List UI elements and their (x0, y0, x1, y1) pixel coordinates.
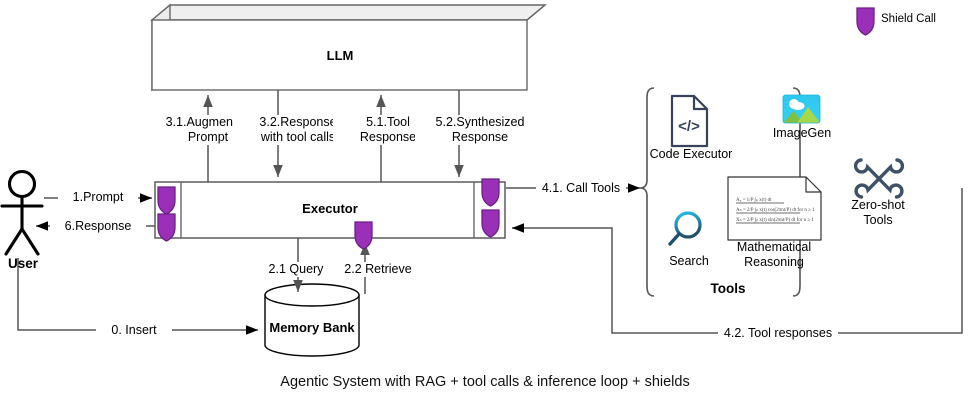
shield-icon-exec-left-top (158, 187, 175, 214)
image-icon (783, 95, 820, 123)
shield-icon-exec-right-bottom (482, 210, 499, 237)
shield-icon-exec-bottom (355, 222, 372, 249)
shield-icon-legend (857, 8, 874, 35)
user-label: User (0, 256, 46, 271)
diagram-svg: </> A₀ = 1/P ∫ₚ x(t (0, 0, 970, 411)
edge-0-insert (18, 258, 258, 330)
magnifier-icon (670, 213, 700, 244)
user-actor[interactable] (2, 172, 42, 255)
diagram-caption: Agentic System with RAG + tool calls & i… (0, 374, 970, 390)
memory-bank-label: Memory Bank (252, 320, 372, 335)
svg-text:</>: </> (678, 118, 700, 135)
shield-icon-exec-right-top (482, 179, 499, 206)
legend-label: Shield Call (881, 13, 936, 25)
shield-icon-exec-left-bottom (158, 214, 175, 241)
code-document-icon: </> (672, 96, 707, 146)
svg-text:Aₙ = 2/P ∫ₚ x(t) cos(2πnt/P) d: Aₙ = 2/P ∫ₚ x(t) cos(2πnt/P) dt for n ≥ … (736, 207, 815, 213)
llm-label: LLM (270, 48, 410, 63)
svg-text:Xₙ = 2/P ∫ₚ x(t) sin(2πnt/P) d: Xₙ = 2/P ∫ₚ x(t) sin(2πnt/P) dt for n ≥ … (736, 217, 814, 223)
diagram-canvas: </> A₀ = 1/P ∫ₚ x(t (0, 0, 970, 411)
executor-label: Executor (255, 201, 405, 216)
formula-document-icon: A₀ = 1/P ∫ₚ x(t) dt Aₙ = 2/P ∫ₚ x(t) cos… (727, 177, 908, 240)
crossed-wrenches-icon (856, 160, 903, 197)
tools-group-label: Tools (698, 281, 758, 296)
svg-text:A₀ = 1/P ∫ₚ x(t) dt: A₀ = 1/P ∫ₚ x(t) dt (736, 197, 772, 203)
